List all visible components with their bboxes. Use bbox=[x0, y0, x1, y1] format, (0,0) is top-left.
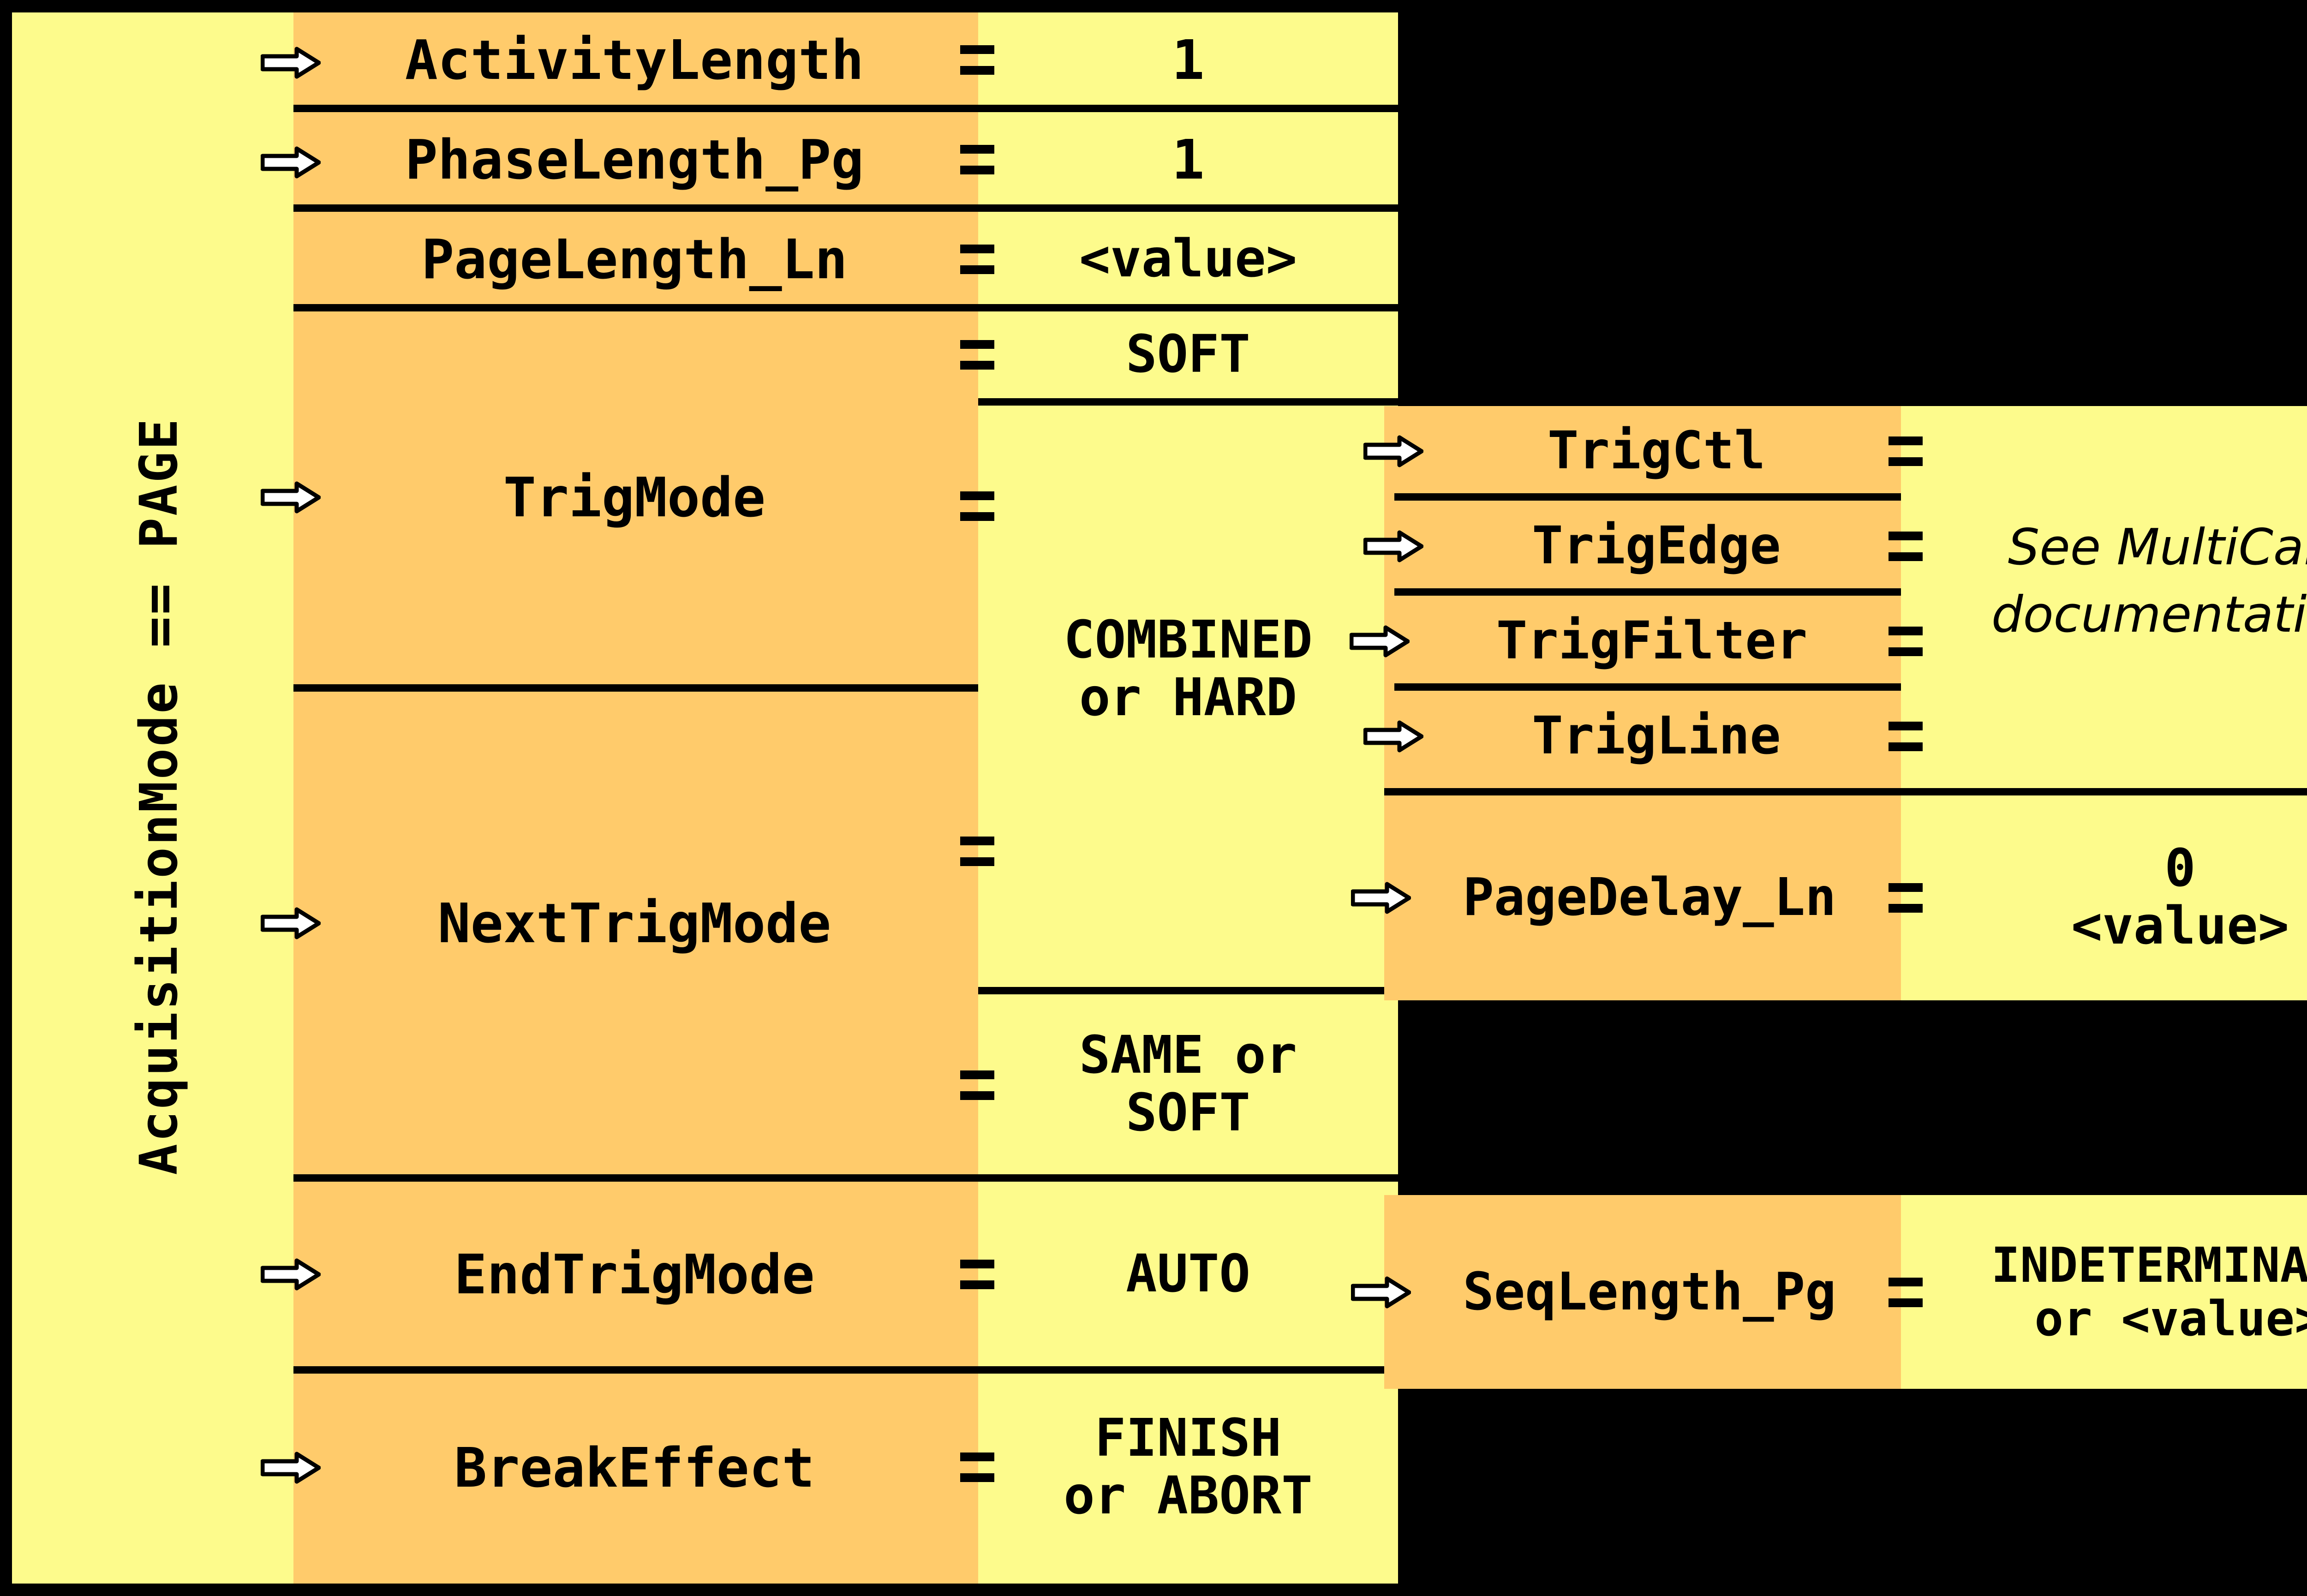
parameter-name-trig-ctl: TrigCtl bbox=[1426, 412, 1887, 490]
block-arrow-right-icon bbox=[261, 1258, 321, 1291]
equals-sign-next-trig-mode-combined bbox=[945, 819, 1010, 884]
block-arrow-right-icon bbox=[1351, 881, 1411, 915]
value-seq-length-pg: INDETERMINATE or <value> bbox=[1903, 1220, 2307, 1363]
diagram-canvas: AcquisitionMode == PAGE ActivityLength 1… bbox=[0, 0, 2307, 1596]
parameter-name-next-trig-mode: NextTrigMode bbox=[323, 884, 946, 962]
block-arrow-right-icon bbox=[261, 46, 321, 79]
separator-phase-pagelen bbox=[293, 204, 1398, 212]
parameter-name-end-trig-mode: EndTrigMode bbox=[323, 1235, 946, 1314]
separator-trigline-pagedelay bbox=[1384, 788, 2307, 795]
parameter-name-seq-length-pg: SeqLength_Pg bbox=[1403, 1253, 1896, 1332]
value-trig-mode-soft: SOFT bbox=[978, 316, 1398, 394]
separator-trigedge-trigfilter bbox=[1394, 588, 1901, 596]
block-arrow-right-icon bbox=[1363, 720, 1423, 753]
value-trig-mode-combined: COMBINED or HARD bbox=[978, 600, 1398, 738]
value-phase-length-pg: 1 bbox=[978, 120, 1398, 199]
value-page-delay-ln: 0 <value> bbox=[1906, 826, 2307, 969]
value-activity-length: 1 bbox=[978, 21, 1398, 99]
separator-trigctl-trigedge bbox=[1394, 493, 1901, 501]
equals-sign-trig-line bbox=[1873, 704, 1938, 769]
block-arrow-right-icon bbox=[261, 146, 321, 179]
separator-soft-combined bbox=[978, 398, 1398, 406]
separator-combined-samesoft bbox=[978, 987, 1398, 994]
block-arrow-right-icon bbox=[1351, 1276, 1411, 1309]
separator-endtrigmode-breakeffect bbox=[293, 1366, 1398, 1374]
parameter-name-activity-length: ActivityLength bbox=[323, 21, 946, 99]
parameter-name-trig-edge: TrigEdge bbox=[1426, 507, 1887, 586]
block-arrow-right-icon bbox=[261, 481, 321, 514]
parameter-name-break-effect: BreakEffect bbox=[323, 1429, 946, 1507]
block-arrow-right-icon bbox=[1363, 435, 1423, 468]
parameter-name-page-delay-ln: PageDelay_Ln bbox=[1403, 859, 1896, 937]
separator-trigfilter-trigline bbox=[1394, 683, 1901, 691]
value-break-effect: FINISH or ABORT bbox=[978, 1398, 1398, 1536]
block-arrow-right-icon bbox=[1363, 530, 1423, 563]
equals-sign-trig-ctl bbox=[1873, 419, 1938, 484]
parameter-name-phase-length-pg: PhaseLength_Pg bbox=[323, 120, 946, 199]
block-arrow-right-icon bbox=[261, 1451, 321, 1484]
separator-pagelen-trigmode bbox=[293, 304, 1398, 311]
equals-sign-trig-mode-combined bbox=[945, 474, 1010, 538]
separator-trigmode-nexttrigmode bbox=[293, 684, 978, 692]
block-arrow-right-icon bbox=[1350, 625, 1410, 658]
value-page-length-ln: <value> bbox=[978, 220, 1398, 299]
parameter-name-page-length-ln: PageLength_Ln bbox=[323, 220, 946, 299]
value-next-trig-mode-same-soft: SAME or SOFT bbox=[978, 1015, 1398, 1154]
parameter-name-trig-mode: TrigMode bbox=[323, 458, 946, 537]
multicam-documentation-note: See MultiCam documentation bbox=[1906, 508, 2307, 655]
value-end-trig-mode: AUTO bbox=[978, 1235, 1398, 1314]
separator-activity-phase bbox=[293, 105, 1398, 112]
parameter-name-trig-line: TrigLine bbox=[1426, 697, 1887, 776]
parameter-name-trig-filter: TrigFilter bbox=[1416, 602, 1887, 681]
block-arrow-right-icon bbox=[261, 907, 321, 940]
acquisition-mode-label: AcquisitionMode == PAGE bbox=[108, 143, 210, 1449]
separator-nexttrigmode-endtrigmode bbox=[293, 1174, 1398, 1182]
